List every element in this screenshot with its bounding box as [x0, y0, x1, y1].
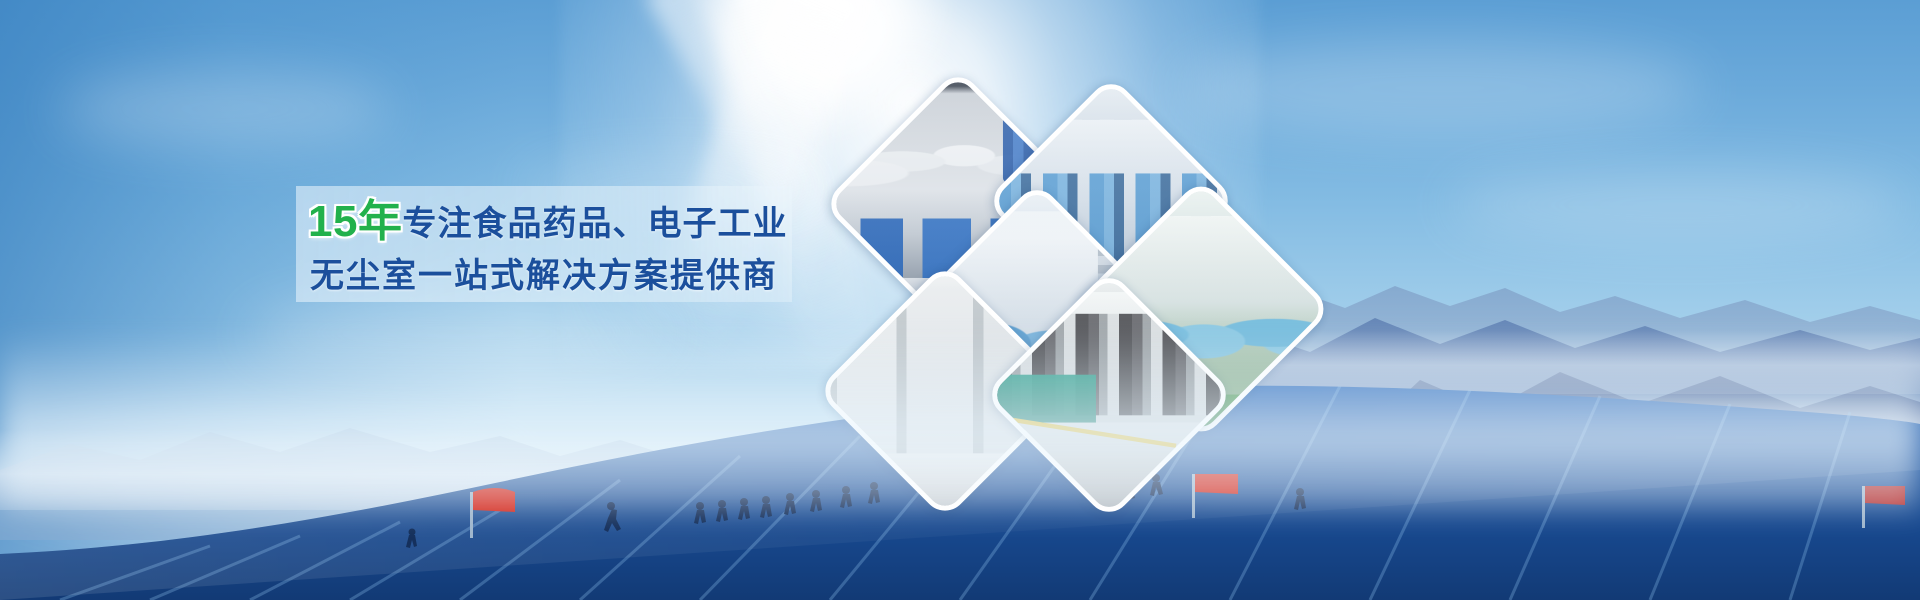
hero-banner: 15年专注食品药品、电子工业 无尘室一站式解决方案提供商 [0, 0, 1920, 600]
photo-collage [0, 0, 1920, 600]
atmospheric-haze [0, 330, 1920, 510]
